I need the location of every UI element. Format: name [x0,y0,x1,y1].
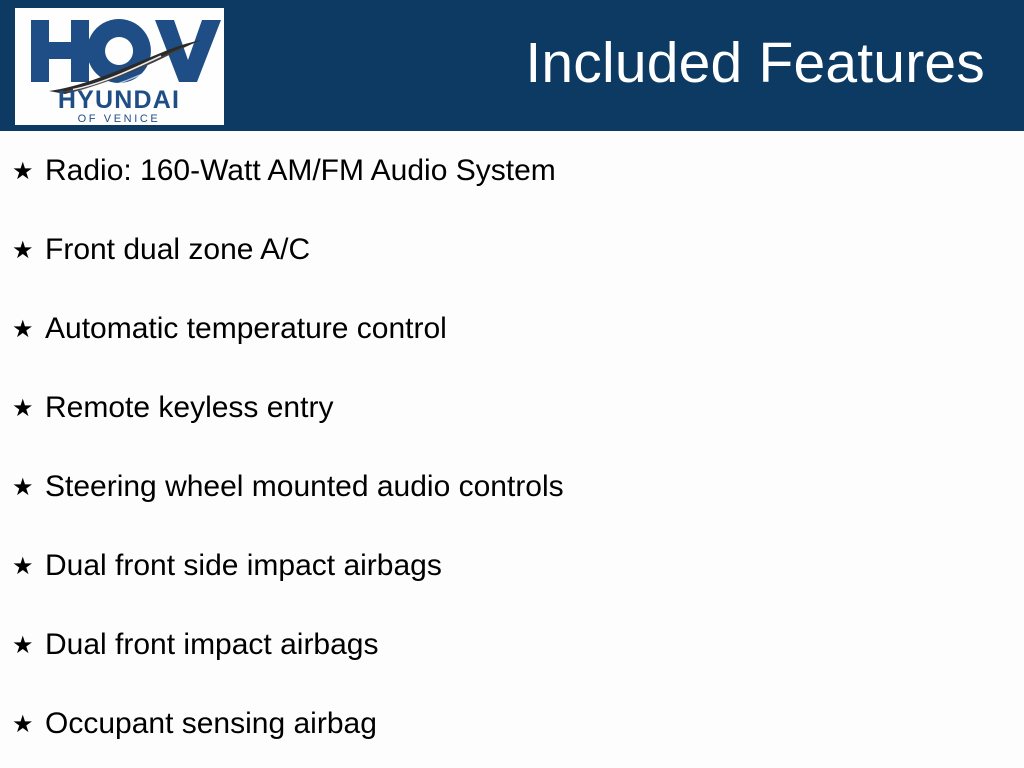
list-item: ★Dual front impact airbags [0,605,1024,684]
star-bullet-icon: ★ [12,633,45,657]
list-item: ★Automatic temperature control [0,289,1024,368]
star-bullet-icon: ★ [12,554,45,578]
list-item-label: Remote keyless entry [45,390,1024,426]
svg-text:OF VENICE: OF VENICE [78,113,161,125]
star-bullet-icon: ★ [12,238,45,262]
hov-hyundai-of-venice-logo-icon: HYUNDAI OF VENICE [15,8,224,125]
star-bullet-icon: ★ [12,712,45,736]
list-item: ★Occupant sensing airbag [0,684,1024,763]
list-item: ★Front dual zone A/C [0,210,1024,289]
list-item-label: Radio: 160-Watt AM/FM Audio System [45,153,1024,189]
list-item-label: Automatic temperature control [45,311,1024,347]
svg-text:HYUNDAI: HYUNDAI [58,86,180,114]
list-item-label: Dual front impact airbags [45,627,1024,663]
list-item-label: Dual front side impact airbags [45,548,1024,584]
star-bullet-icon: ★ [12,396,45,420]
slide: Included Features HYUNDAI OF VENICE ★Rad… [0,0,1024,768]
star-bullet-icon: ★ [12,159,45,183]
list-item-label: Occupant sensing airbag [45,706,1024,742]
dealer-logo[interactable]: HYUNDAI OF VENICE [15,8,224,125]
included-features-list: ★Radio: 160-Watt AM/FM Audio System★Fron… [0,131,1024,768]
star-bullet-icon: ★ [12,475,45,499]
list-item-label: Front dual zone A/C [45,232,1024,268]
star-bullet-icon: ★ [12,317,45,341]
page-title: Included Features [525,28,985,98]
list-item: ★Radio: 160-Watt AM/FM Audio System [0,131,1024,210]
list-item-label: Steering wheel mounted audio controls [45,469,1024,505]
list-item: ★Steering wheel mounted audio controls [0,447,1024,526]
list-item: ★Remote keyless entry [0,368,1024,447]
list-item: ★Dual front side impact airbags [0,526,1024,605]
